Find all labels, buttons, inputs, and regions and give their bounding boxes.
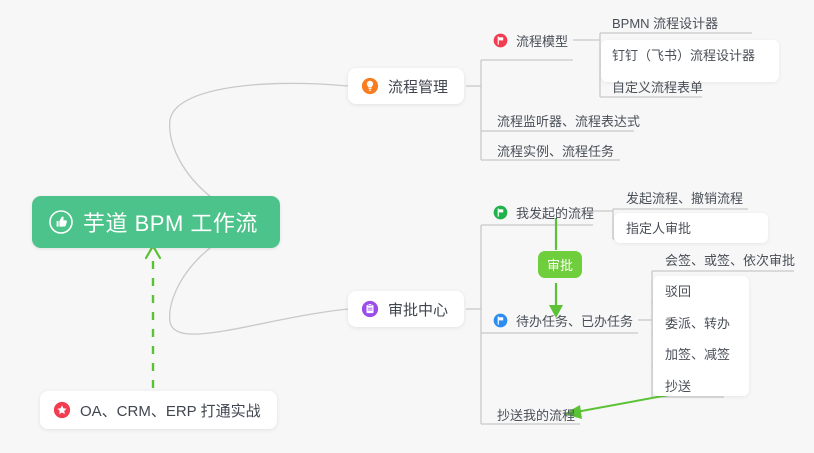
branch-approval-center[interactable]: 审批中心 [348, 291, 464, 327]
star-icon [53, 401, 71, 419]
flag-icon [493, 313, 508, 328]
lightbulb-icon [361, 77, 379, 95]
leaf-label: 加签、减签 [665, 344, 730, 363]
approval-badge: 审批 [538, 251, 582, 278]
leaf-label: 我发起的流程 [516, 203, 594, 222]
leaf-assignee-approval[interactable]: 指定人审批 [618, 213, 699, 241]
branch-label: 审批中心 [388, 299, 448, 320]
leaf-label: 驳回 [665, 281, 691, 300]
mindmap-canvas: 芋道 BPM 工作流 流程管理 流程模型 BPMN 流程设计器 [0, 0, 814, 453]
leaf-label: 发起流程、撤销流程 [626, 188, 743, 207]
root-node[interactable]: 芋道 BPM 工作流 [32, 196, 280, 248]
leaf-bpmn-designer[interactable]: BPMN 流程设计器 [604, 8, 726, 36]
flag-icon [493, 205, 508, 220]
leaf-process-instance[interactable]: 流程实例、流程任务 [489, 136, 622, 164]
leaf-label: 委派、转办 [665, 313, 730, 332]
leaf-label: 自定义流程表单 [612, 77, 703, 96]
leaf-label: 钉钉（飞书）流程设计器 [612, 45, 755, 64]
leaf-custom-form[interactable]: 自定义流程表单 [604, 72, 711, 100]
leaf-label: BPMN 流程设计器 [612, 13, 718, 32]
leaf-reject[interactable]: 驳回 [657, 276, 699, 304]
leaf-label: 抄送我的流程 [497, 405, 575, 424]
leaf-label: 抄送 [665, 376, 691, 395]
thumbs-up-icon [49, 210, 73, 234]
leaf-countersign[interactable]: 会签、或签、依次审批 [657, 245, 803, 273]
leaf-label: 指定人审批 [626, 218, 691, 237]
note-label: OA、CRM、ERP 打通实战 [80, 400, 261, 421]
root-label: 芋道 BPM 工作流 [83, 206, 258, 238]
approval-badge-label: 审批 [547, 255, 573, 274]
leaf-process-listener[interactable]: 流程监听器、流程表达式 [489, 106, 648, 134]
leaf-dingtalk-designer[interactable]: 钉钉（飞书）流程设计器 [604, 40, 763, 68]
branch-label: 流程管理 [388, 76, 448, 97]
flag-icon [493, 33, 508, 48]
leaf-my-initiated-process[interactable]: 我发起的流程 [489, 198, 602, 226]
leaf-add-remove-sign[interactable]: 加签、减签 [657, 339, 738, 367]
leaf-cc-to-me[interactable]: 抄送我的流程 [489, 400, 583, 428]
leaf-cc[interactable]: 抄送 [657, 371, 699, 399]
leaf-start-cancel-process[interactable]: 发起流程、撤销流程 [618, 183, 751, 211]
leaf-label: 流程模型 [516, 31, 568, 50]
note-card-integration[interactable]: OA、CRM、ERP 打通实战 [40, 391, 277, 429]
leaf-label: 流程监听器、流程表达式 [497, 111, 640, 130]
leaf-label: 流程实例、流程任务 [497, 141, 614, 160]
leaf-todo-done-tasks[interactable]: 待办任务、已办任务 [489, 306, 641, 334]
leaf-delegate-transfer[interactable]: 委派、转办 [657, 308, 738, 336]
clipboard-icon [361, 300, 379, 318]
leaf-process-model[interactable]: 流程模型 [489, 26, 576, 54]
leaf-label: 会签、或签、依次审批 [665, 250, 795, 269]
branch-process-management[interactable]: 流程管理 [348, 68, 464, 104]
leaf-label: 待办任务、已办任务 [516, 311, 633, 330]
